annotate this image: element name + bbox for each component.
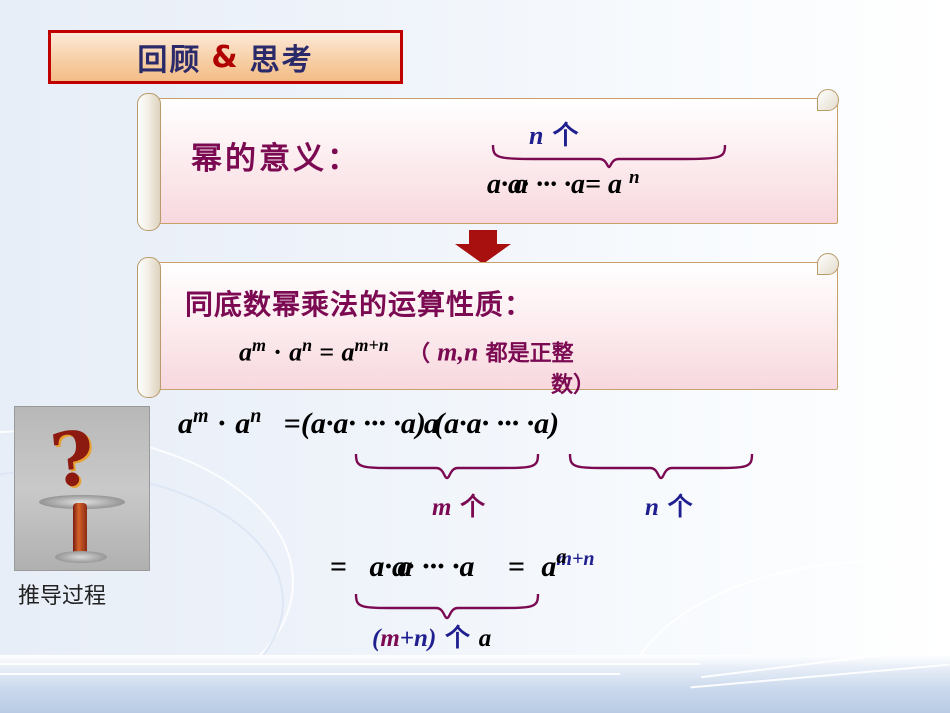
panel1-expression: a·a· ··· ·a= a a n <box>487 167 640 201</box>
scroll-curl-top-right-1 <box>817 89 839 111</box>
deriv1-group-2: (a·a· ··· ·a) <box>434 407 559 440</box>
deriv2-expression: a·a· ··· ·a a <box>369 550 482 583</box>
total-base: a <box>479 625 492 652</box>
brace-over-expression-1 <box>489 143 729 169</box>
title-ampersand: & <box>211 40 239 75</box>
formula-base-2: a <box>289 338 302 367</box>
n-count-label: n 个 <box>645 487 693 523</box>
deriv1-exp-2: n <box>250 405 261 427</box>
band-line-2 <box>0 673 620 675</box>
deriv1-group-1-overlay-a: a <box>424 407 439 441</box>
m-count-unit: 个 <box>460 492 485 521</box>
panel1-expression-overlay-a: a <box>514 169 528 201</box>
deriv2-result-base: a <box>541 550 556 583</box>
formula-exp-1: m <box>252 335 266 355</box>
n-count-unit: 个 <box>668 492 693 521</box>
total-close-paren: ) <box>428 625 436 652</box>
derivation-line-1: am · an =(a·a· ··· ·a)a (a·a· ··· ·a) <box>178 405 559 441</box>
deriv2-equals-2: = <box>508 550 525 583</box>
panel1-expression-text: a·a· ··· ·a= a <box>487 169 622 200</box>
panel2-formula: am · an = am+n （ m,n 都是正整 <box>239 335 574 368</box>
deriv2-expression-overlay-a: a <box>397 550 412 584</box>
down-arrow-icon <box>455 230 511 262</box>
deriv1-dot: · <box>217 407 227 440</box>
condition-open-paren: （ <box>408 342 430 367</box>
brace-under-group-1 <box>352 452 542 482</box>
formula-exp-3: m+n <box>354 335 388 355</box>
band-line-4 <box>690 664 949 689</box>
deriv1-equals: = <box>284 407 301 440</box>
brace-under-group-2 <box>566 452 756 482</box>
total-count-label: (m+n) 个 a <box>372 618 491 654</box>
bottom-decorative-band <box>0 655 950 713</box>
formula-equals: = <box>319 338 334 367</box>
question-mark-stem <box>73 503 87 557</box>
formula-dot: · <box>273 338 282 367</box>
m-count-num: m <box>432 494 451 521</box>
arrow-head <box>455 244 511 264</box>
band-line-1 <box>0 663 700 665</box>
deriv1-base-2: a <box>235 407 250 440</box>
scroll-roll-left-2 <box>137 257 161 398</box>
deriv2-equals-1: = <box>330 550 347 583</box>
title-text: 回顾 & 思考 <box>51 33 400 81</box>
total-n: n <box>414 625 428 652</box>
total-unit: 个 <box>445 623 470 652</box>
panel-power-meaning: 幂的意义： n 个 a·a· ··· ·a= a a n <box>148 98 838 224</box>
scroll-roll-left-1 <box>137 93 161 231</box>
panel1-label: 幂的意义： <box>191 133 361 178</box>
condition-vars: m,n <box>437 338 478 367</box>
panel2-label: 同底数幂乘法的运算性质： <box>185 283 533 323</box>
deriv2-expression-text: a·a· ··· ·a <box>369 550 474 583</box>
condition-tail: 数） <box>551 367 595 399</box>
total-m: m <box>380 625 399 652</box>
slide-canvas: 回顾 & 思考 幂的意义： n 个 a·a· ··· ·a= a a n <box>0 0 950 713</box>
panel-same-base-rule: 同底数幂乘法的运算性质： am · an = am+n （ m,n 都是正整 数… <box>148 262 838 390</box>
deriv2-result-exponent-overlay-a: a <box>556 546 566 569</box>
condition-text: 都是正整 <box>486 342 574 367</box>
scroll-curl-top-right-2 <box>817 253 839 275</box>
panel1-expression-exponent: n <box>629 167 640 188</box>
derivation-line-2: = a·a· ··· ·a a = aam+n <box>330 548 594 584</box>
n-count-num: n <box>645 494 659 521</box>
title-left: 回顾 <box>137 35 201 79</box>
image-caption: 推导过程 <box>18 578 106 610</box>
question-mark-glyph: ? <box>47 415 99 505</box>
deriv2-result: aam+n <box>541 550 594 583</box>
deriv1-base-1: a <box>178 407 193 440</box>
question-mark-base <box>55 551 107 563</box>
formula-base-1: a <box>239 338 252 367</box>
total-plus: + <box>400 625 414 652</box>
title-box: 回顾 & 思考 <box>48 30 403 84</box>
formula-exp-2: n <box>302 335 312 355</box>
m-count-label: m 个 <box>432 487 485 523</box>
formula-base-3: a <box>341 338 354 367</box>
question-mark-image: ? <box>14 406 150 571</box>
deriv1-group-1-text: (a·a· ··· ·a) <box>301 407 426 440</box>
title-right: 思考 <box>250 35 314 79</box>
deriv2-result-exponent: am+n <box>556 548 594 570</box>
deriv1-group-1: (a·a· ··· ·a)a <box>301 407 426 440</box>
deriv1-exp-1: m <box>193 405 209 427</box>
